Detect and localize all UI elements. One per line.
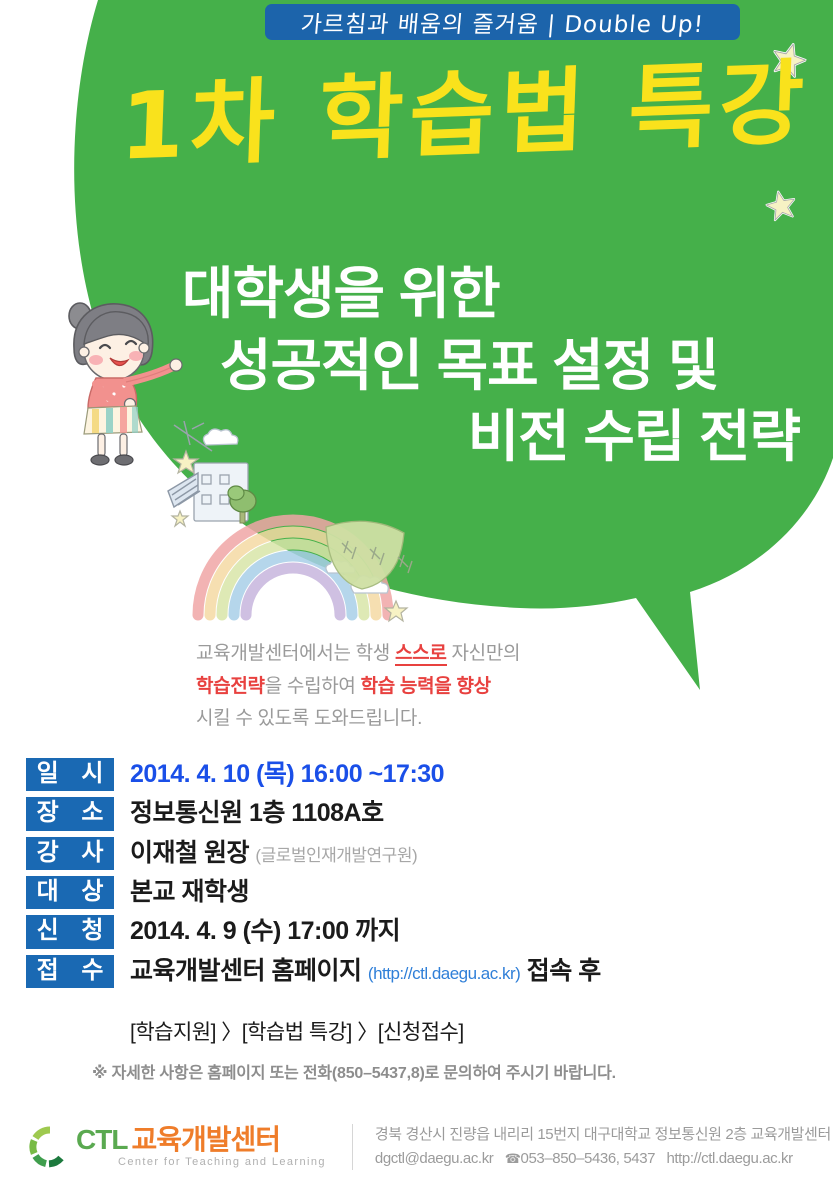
ctl-logo-subtitle: Center for Teaching and Learning bbox=[76, 1157, 326, 1168]
info-value-datetime: 2014. 4. 10 (목) 16:00 ~17:30 bbox=[114, 758, 444, 789]
footer-phone: 053–850–5436, 5437 bbox=[521, 1150, 656, 1167]
ctl-korean-name: 교육개발센터 bbox=[131, 1124, 280, 1155]
event-info-table: 일 시 2014. 4. 10 (목) 16:00 ~17:30 장 소 정보통… bbox=[26, 758, 806, 994]
tagline-ribbon: 가르침과 배움의 즐거움 | Double Up! bbox=[265, 4, 740, 40]
description-line-2: 학습전략을 수립하여 학습 능력을 향상 bbox=[196, 671, 666, 704]
table-row: 접 수 교육개발센터 홈페이지 (http://ctl.daegu.ac.kr)… bbox=[26, 955, 806, 988]
page-title: 1차 학습법 특강 bbox=[119, 56, 782, 176]
info-label-instructor: 강 사 bbox=[26, 837, 114, 870]
subtitle-line-1: 대학생을 위한 bbox=[160, 258, 810, 330]
info-label-application: 신 청 bbox=[26, 915, 114, 948]
info-label-datetime: 일 시 bbox=[26, 758, 114, 791]
footer: CTL교육개발센터 Center for Teaching and Learni… bbox=[0, 1105, 833, 1188]
footer-divider bbox=[352, 1124, 353, 1170]
info-label-audience: 대 상 bbox=[26, 876, 114, 909]
description-highlight-self: 스스로 bbox=[395, 643, 447, 666]
footer-address-line: 경북 경산시 진량읍 내리리 15번지 대구대학교 정보통신원 2층 교육개발센… bbox=[375, 1123, 831, 1147]
footer-website[interactable]: http://ctl.daegu.ac.kr bbox=[666, 1150, 792, 1167]
registration-path: [학습지원] 〉[학습법 특강] 〉[신청접수] bbox=[130, 1016, 464, 1046]
phone-icon: ☎ bbox=[505, 1151, 521, 1166]
info-value-audience: 본교 재학생 bbox=[114, 876, 249, 907]
registration-url[interactable]: (http://ctl.daegu.ac.kr) bbox=[368, 964, 520, 983]
instructor-name: 이재철 원장 bbox=[130, 839, 249, 867]
rainbow-cityscape-illustration bbox=[158, 415, 468, 625]
table-row: 신 청 2014. 4. 9 (수) 17:00 까지 bbox=[26, 915, 806, 948]
table-row: 일 시 2014. 4. 10 (목) 16:00 ~17:30 bbox=[26, 758, 806, 791]
table-row: 대 상 본교 재학생 bbox=[26, 876, 806, 909]
table-row: 장 소 정보통신원 1층 1108A호 bbox=[26, 797, 806, 830]
info-label-registration: 접 수 bbox=[26, 955, 114, 988]
description-l1-post: 자신만의 bbox=[447, 643, 521, 664]
description-paragraph: 교육개발센터에서는 학생 스스로 자신만의 학습전략을 수립하여 학습 능력을 … bbox=[196, 638, 666, 736]
tagline-text: 가르침과 배움의 즐거움 | Double Up! bbox=[299, 5, 705, 39]
poster-root: 가르침과 배움의 즐거움 | Double Up! 1차 학습법 특강 대학생을… bbox=[0, 0, 833, 1188]
instructor-affiliation: (글로벌인재개발연구원) bbox=[255, 846, 417, 865]
star-icon bbox=[763, 187, 799, 223]
footnote-text: ※ 자세한 사항은 홈페이지 또는 전화(850–5437,8)로 문의하여 주… bbox=[92, 1059, 616, 1083]
description-line-1: 교육개발센터에서는 학생 스스로 자신만의 bbox=[196, 638, 666, 671]
ctl-logo: CTL교육개발센터 Center for Teaching and Learni… bbox=[28, 1125, 326, 1169]
registration-site-label: 교육개발센터 홈페이지 bbox=[130, 957, 361, 985]
description-highlight-ability: 학습 능력을 향상 bbox=[361, 676, 491, 697]
ctl-logo-text: CTL교육개발센터 Center for Teaching and Learni… bbox=[76, 1126, 326, 1168]
footer-contact-info: 경북 경산시 진량읍 내리리 15번지 대구대학교 정보통신원 2층 교육개발센… bbox=[375, 1123, 831, 1171]
registration-suffix: 접속 후 bbox=[527, 957, 601, 985]
ctl-acronym: CTL bbox=[76, 1124, 127, 1155]
info-value-location: 정보통신원 1층 1108A호 bbox=[114, 797, 384, 828]
info-value-registration: 교육개발센터 홈페이지 (http://ctl.daegu.ac.kr) 접속 … bbox=[114, 955, 601, 986]
info-value-application: 2014. 4. 9 (수) 17:00 까지 bbox=[114, 915, 400, 946]
subtitle-line-2: 성공적인 목표 설정 및 bbox=[160, 330, 810, 402]
description-l1-pre: 교육개발센터에서는 학생 bbox=[196, 643, 395, 664]
description-line-3: 시킬 수 있도록 도와드립니다. bbox=[196, 703, 666, 736]
info-label-location: 장 소 bbox=[26, 797, 114, 830]
info-value-instructor: 이재철 원장 (글로벌인재개발연구원) bbox=[114, 837, 417, 868]
description-highlight-strategy: 학습전략 bbox=[196, 676, 265, 697]
ctl-circle-icon bbox=[28, 1125, 72, 1169]
footer-contact-line: dgctl@daegu.ac.kr ☎053–850–5436, 5437 ht… bbox=[375, 1147, 831, 1171]
footer-email[interactable]: dgctl@daegu.ac.kr bbox=[375, 1150, 494, 1167]
table-row: 강 사 이재철 원장 (글로벌인재개발연구원) bbox=[26, 837, 806, 870]
ctl-logo-primary: CTL교육개발센터 bbox=[76, 1126, 326, 1154]
description-l2-mid: 을 수립하여 bbox=[265, 676, 361, 697]
